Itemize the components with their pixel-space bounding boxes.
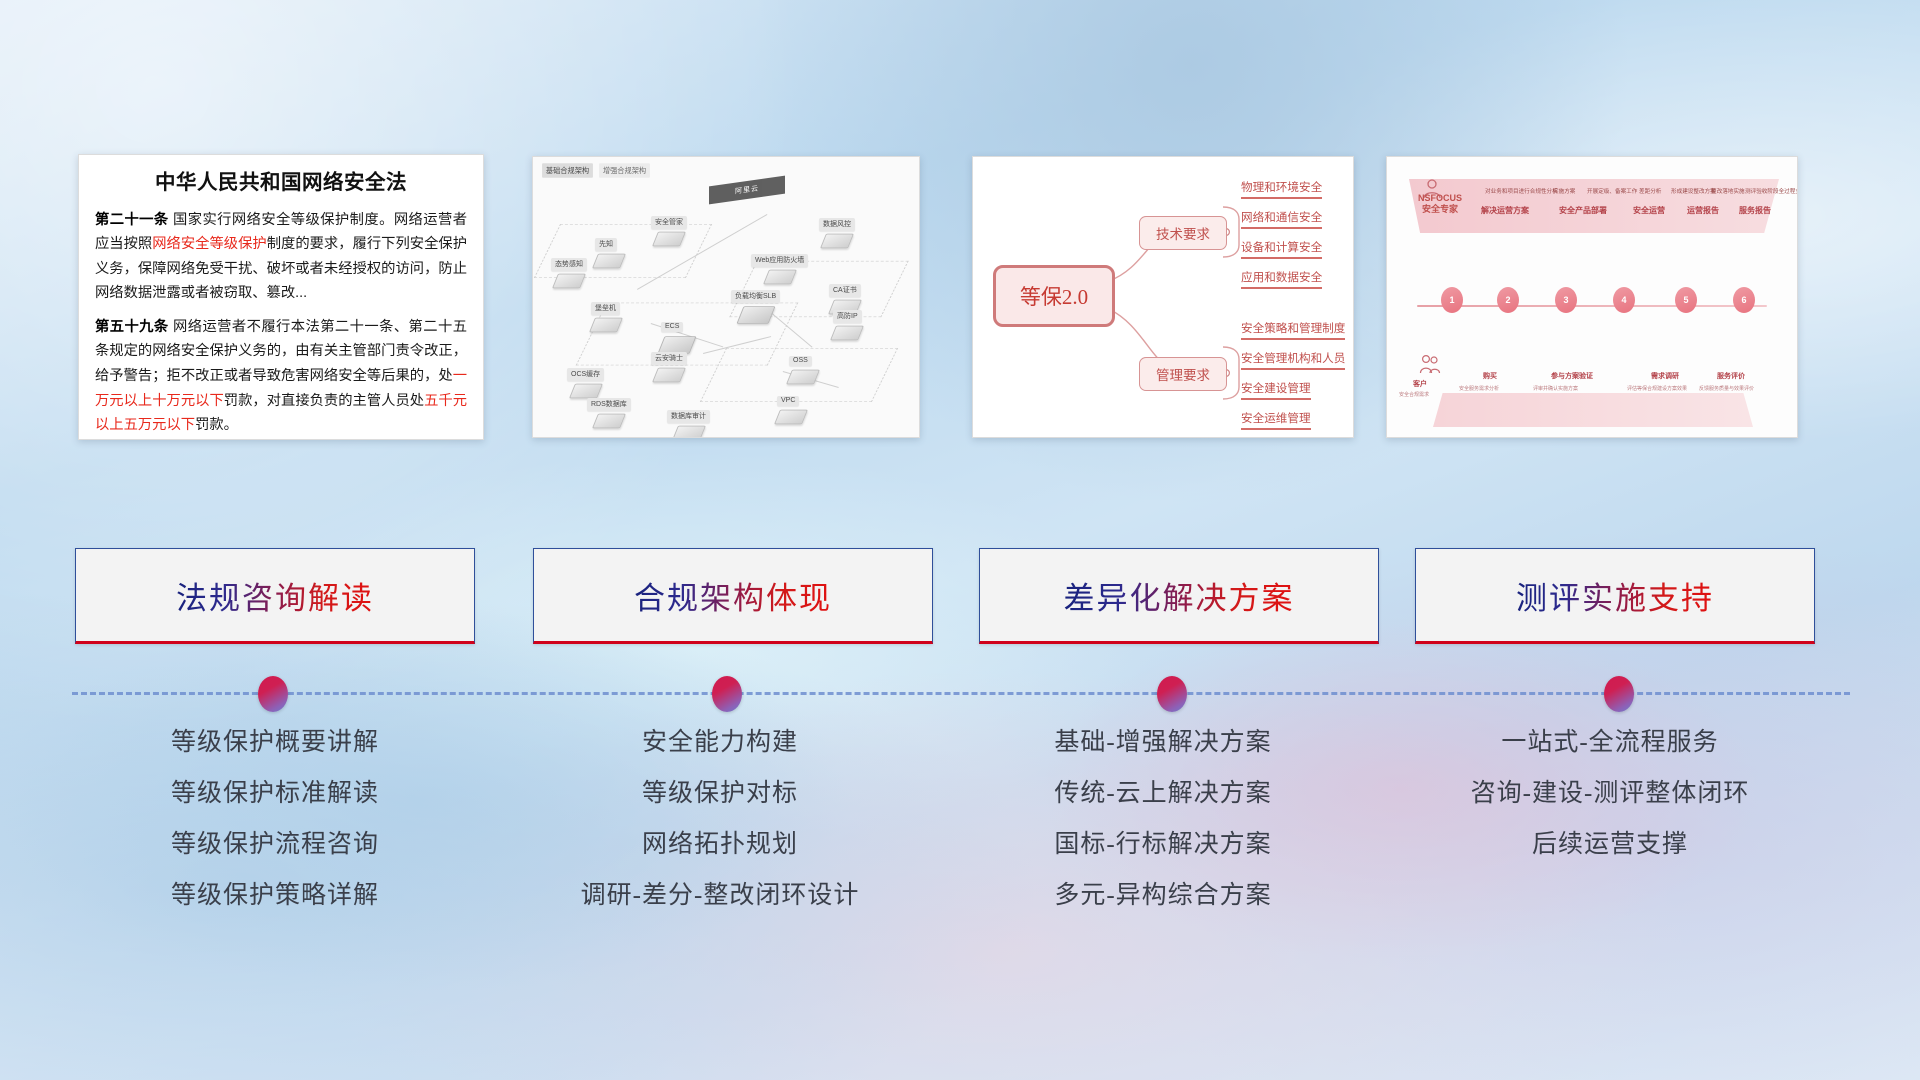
timeline-dashed-line — [72, 692, 1850, 695]
law-article-21: 第二十一条 国家实行网络安全等级保护制度。网络运营者应当按照网络安全等级保护制度… — [95, 208, 467, 306]
list-item: 等级保护流程咨询 — [55, 832, 495, 857]
mindmap-leaf-construction-mgmt: 安全建设管理 — [1241, 380, 1311, 400]
architecture-tabs[interactable]: 基础合规架构 增强合规架构 — [541, 163, 651, 178]
roadmap-header-2: 实施方案 — [1553, 187, 1575, 195]
law-document-card[interactable]: 中华人民共和国网络安全法 第二十一条 国家实行网络安全等级保护制度。网络运营者应… — [78, 154, 484, 440]
timeline — [0, 672, 1920, 712]
mindmap-branch-technical: 技术要求 — [1139, 216, 1227, 250]
service-roadmap-card[interactable]: NSFOCUS 安全专家 对业务和项目进行合规性分析 实施方案 开展定级、备案工… — [1386, 156, 1798, 438]
law-article-59-text-c: 罚款。 — [195, 417, 238, 433]
banner-compliance-architecture[interactable]: 合规架构体现 — [533, 548, 933, 644]
roadmap-bottom-band — [1433, 393, 1753, 427]
timeline-dot-2[interactable] — [712, 676, 742, 712]
roadmap-bottom-sub-3: 评估等保合规建设方案效果 — [1627, 385, 1687, 392]
banner-label-3: 差异化解决方案 — [1064, 573, 1295, 618]
mindmap-leaf-physical-environment: 物理和环境安全 — [1241, 179, 1322, 199]
roadmap-header-6: 整改落地实施 — [1711, 187, 1745, 195]
mindmap-leaf-org-personnel: 安全管理机构和人员 — [1241, 350, 1345, 370]
mindmap-root-node: 等保2.0 — [993, 265, 1115, 327]
roadmap-service-1: 解决运营方案 — [1481, 205, 1529, 216]
timeline-dot-1[interactable] — [258, 676, 288, 712]
list-item: 等级保护概要讲解 — [55, 730, 495, 755]
list-item: 安全能力构建 — [500, 730, 940, 755]
list-item: 网络拓扑规划 — [500, 832, 940, 857]
node-anti-ddos-ip: 高防IP — [833, 305, 862, 342]
law-heading: 中华人民共和国网络安全法 — [95, 171, 467, 196]
mindmap-diagram: 等保2.0 技术要求 物理和环境安全 网络和通信安全 设备和计算安全 应用和数据… — [973, 157, 1353, 437]
list-item: 等级保护标准解读 — [55, 781, 495, 806]
node-database-audit: 数据库审计 — [667, 405, 710, 438]
list-item: 等级保护策略详解 — [55, 883, 495, 908]
banner-regulation-consulting[interactable]: 法规咨询解读 — [75, 548, 475, 644]
list-item: 国标-行标解决方案 — [943, 832, 1383, 857]
mindmap-leaf-security-policy: 安全策略和管理制度 — [1241, 320, 1345, 340]
list-item: 一站式-全流程服务 — [1390, 730, 1830, 755]
detail-column-row: 等级保护概要讲解 等级保护标准解读 等级保护流程咨询 等级保护策略详解 安全能力… — [0, 730, 1920, 1010]
roadmap-step-5: 5 — [1675, 287, 1697, 313]
roadmap-header-5: 形成建设整改方案 — [1671, 187, 1716, 195]
banner-assessment-support[interactable]: 测评实施支持 — [1415, 548, 1815, 644]
roadmap-step-2: 2 — [1497, 287, 1519, 313]
service-roadmap-diagram: NSFOCUS 安全专家 对业务和项目进行合规性分析 实施方案 开展定级、备案工… — [1387, 157, 1797, 437]
node-risk-control: 数据风控 — [819, 213, 855, 250]
roadmap-brand: NSFOCUS 安全专家 — [1417, 193, 1463, 216]
banner-row: 法规咨询解读 合规架构体现 差异化解决方案 测评实施支持 — [0, 548, 1920, 646]
cloud-provider-banner: 阿里云 — [709, 176, 785, 205]
roadmap-service-2: 安全产品部署 — [1559, 205, 1607, 216]
node-cloud-security-rider: 云安骑士 — [651, 347, 687, 384]
detail-column-1: 等级保护概要讲解 等级保护标准解读 等级保护流程咨询 等级保护策略详解 — [55, 730, 495, 934]
roadmap-client-label: 客户 — [1413, 379, 1427, 389]
banner-label-1: 法规咨询解读 — [176, 573, 374, 618]
list-item: 多元-异构综合方案 — [943, 883, 1383, 908]
cloud-architecture-card[interactable]: 基础合规架构 增强合规架构 阿里云 安全管家 先知 态势感知 — [532, 156, 920, 438]
cloud-architecture-diagram: 基础合规架构 增强合规架构 阿里云 安全管家 先知 态势感知 — [533, 157, 919, 437]
tab-enhanced-architecture[interactable]: 增强合规架构 — [599, 163, 650, 177]
node-vpc: VPC — [777, 389, 805, 426]
roadmap-bottom-sub-4: 反馈服务质量与效果评价 — [1699, 385, 1754, 392]
mindmap-leaf-network-communication: 网络和通信安全 — [1241, 209, 1322, 229]
law-article-59-label: 第五十九条 — [95, 319, 169, 335]
roadmap-step-6: 6 — [1733, 287, 1755, 313]
roadmap-bottom-cap-3: 需求调研 — [1651, 371, 1679, 381]
mindmap-leaf-operation-mgmt: 安全运维管理 — [1241, 410, 1311, 430]
roadmap-header-1: 对业务和项目进行合规性分析 — [1485, 187, 1558, 195]
roadmap-bottom-cap-4: 服务评价 — [1717, 371, 1745, 381]
roadmap-bottom-sub-2: 评审并确认实施方案 — [1533, 385, 1578, 392]
law-article-59: 第五十九条 网络运营者不履行本法第二十一条、第二十五条规定的网络安全保护义务的，… — [95, 315, 467, 438]
banner-label-4: 测评实施支持 — [1516, 573, 1714, 618]
banner-label-2: 合规架构体现 — [634, 573, 832, 618]
roadmap-brand-name: NSFOCUS — [1418, 193, 1462, 203]
law-document-body: 中华人民共和国网络安全法 第二十一条 国家实行网络安全等级保护制度。网络运营者应… — [79, 155, 483, 439]
roadmap-step-4: 4 — [1613, 287, 1635, 313]
roadmap-axis-line — [1417, 305, 1767, 307]
client-people-icon — [1419, 353, 1441, 375]
law-article-21-highlight: 网络安全等级保护 — [152, 236, 266, 252]
node-rds-database: RDS数据库 — [587, 393, 631, 430]
timeline-dot-3[interactable] — [1157, 676, 1187, 712]
roadmap-bottom-sub-1: 安全服务需求分析 — [1459, 385, 1499, 392]
roadmap-header-3: 开展定级、备案工作 — [1587, 187, 1637, 195]
roadmap-service-3: 安全运营 — [1633, 205, 1665, 216]
detail-column-3: 基础-增强解决方案 传统-云上解决方案 国标-行标解决方案 多元-异构综合方案 — [943, 730, 1383, 934]
node-oss: OSS — [789, 349, 817, 386]
list-item: 传统-云上解决方案 — [943, 781, 1383, 806]
detail-column-2: 安全能力构建 等级保护对标 网络拓扑规划 调研-差分-整改闭环设计 — [500, 730, 940, 934]
list-item: 基础-增强解决方案 — [943, 730, 1383, 755]
list-item: 调研-差分-整改闭环设计 — [500, 883, 940, 908]
roadmap-brand-sub: 安全专家 — [1422, 204, 1458, 214]
roadmap-header-7: 测评验收阶段全过程支持 — [1745, 187, 1798, 195]
list-item: 咨询-建设-测评整体闭环 — [1390, 781, 1830, 806]
tab-basic-architecture[interactable]: 基础合规架构 — [542, 163, 593, 177]
mindmap-card[interactable]: 等保2.0 技术要求 物理和环境安全 网络和通信安全 设备和计算安全 应用和数据… — [972, 156, 1354, 438]
node-bastion-host: 堡垒机 — [591, 297, 620, 334]
roadmap-service-4: 运营报告 — [1687, 205, 1719, 216]
banner-differentiated-solution[interactable]: 差异化解决方案 — [979, 548, 1379, 644]
detail-column-4: 一站式-全流程服务 咨询-建设-测评整体闭环 后续运营支撑 — [1390, 730, 1830, 883]
roadmap-bottom-cap-2: 参与方案验证 — [1551, 371, 1593, 381]
node-load-balancer-slb: 负载均衡SLB — [731, 285, 780, 326]
timeline-dot-4[interactable] — [1604, 676, 1634, 712]
roadmap-service-5: 服务报告 — [1739, 205, 1771, 216]
thumbnail-card-row: 中华人民共和国网络安全法 第二十一条 国家实行网络安全等级保护制度。网络运营者应… — [0, 150, 1920, 450]
node-security-butler: 安全管家 — [651, 211, 687, 248]
mindmap-leaf-device-computing: 设备和计算安全 — [1241, 239, 1322, 259]
node-xianzhi: 先知 — [595, 233, 623, 270]
roadmap-step-3: 3 — [1555, 287, 1577, 313]
node-web-application-firewall: Web应用防火墙 — [751, 249, 808, 286]
roadmap-step-1: 1 — [1441, 287, 1463, 313]
node-situation-awareness: 态势感知 — [551, 253, 587, 290]
roadmap-client-sub: 安全合规需求 — [1399, 391, 1429, 398]
list-item: 后续运营支撑 — [1390, 832, 1830, 857]
law-article-21-label: 第二十一条 — [95, 212, 169, 228]
mindmap-branch-management: 管理要求 — [1139, 357, 1227, 391]
law-article-59-text-b: 罚款，对直接负责的主管人员处 — [224, 393, 424, 409]
roadmap-header-4: 差距分析 — [1639, 187, 1661, 195]
list-item: 等级保护对标 — [500, 781, 940, 806]
mindmap-leaf-application-data: 应用和数据安全 — [1241, 269, 1322, 289]
roadmap-bottom-cap-1: 购买 — [1483, 371, 1497, 381]
